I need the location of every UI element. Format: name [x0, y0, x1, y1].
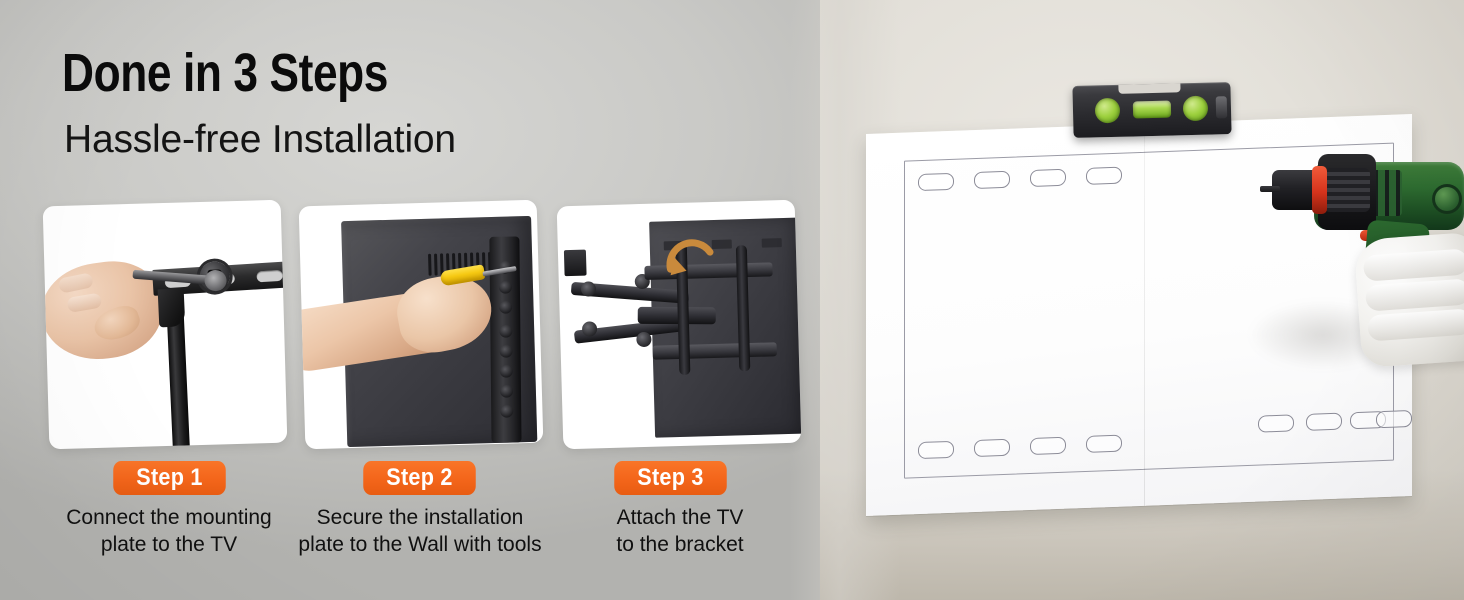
drill-clutch-dial: [1432, 184, 1462, 214]
torpedo-level: [1072, 82, 1231, 138]
step-2-badge: Step 2: [363, 461, 476, 495]
level-end-cap: [1216, 96, 1228, 118]
template-slot: [974, 439, 1010, 457]
paper-fold-line: [1144, 124, 1145, 506]
step-1-illustration: [43, 200, 288, 450]
template-slot: [1086, 167, 1122, 185]
step-2-caption: Secure the installation plate to the Wal…: [270, 504, 570, 558]
step-3-illustration: [557, 200, 802, 450]
rail-slot: [256, 270, 283, 283]
step-3-badge: Step 3: [614, 461, 727, 495]
template-slot: [1376, 410, 1412, 428]
template-slot: [918, 173, 954, 191]
template-slot: [974, 171, 1010, 189]
template-slot: [1258, 414, 1294, 432]
template-slot: [1306, 413, 1342, 431]
step-3-caption-line-2: to the bracket: [530, 531, 830, 558]
step-3-caption-line-1: Attach the TV: [530, 504, 830, 531]
step-2-photo-card: [299, 200, 544, 450]
level-vial: [1133, 101, 1171, 119]
rotation-arrow-icon: [666, 238, 719, 279]
step-3-photo-card: [557, 200, 802, 450]
product-feature-banner: Done in 3 Steps Hassle-free Installation: [0, 0, 1464, 600]
drill-bit: [1260, 186, 1280, 192]
page-subtitle: Hassle-free Installation: [64, 118, 456, 162]
step-1-badge: Step 1: [113, 461, 226, 495]
step-2-illustration: [299, 200, 544, 450]
template-slot: [1086, 435, 1122, 453]
drill-torque-collar: [1312, 166, 1327, 214]
template-slot: [918, 441, 954, 459]
step-3-caption: Attach the TV to the bracket: [530, 504, 830, 558]
template-slot: [1030, 169, 1066, 187]
template-slot: [1030, 437, 1066, 455]
page-title: Done in 3 Steps: [62, 44, 388, 102]
level-notch: [1118, 83, 1180, 94]
step-2-caption-line-2: plate to the Wall with tools: [270, 531, 570, 558]
step-2-caption-line-1: Secure the installation: [270, 504, 570, 531]
step-1-photo-card: [43, 200, 288, 450]
gloved-hand: [1354, 232, 1464, 368]
wall-plate: [564, 250, 587, 277]
bracket-post: [166, 288, 190, 449]
